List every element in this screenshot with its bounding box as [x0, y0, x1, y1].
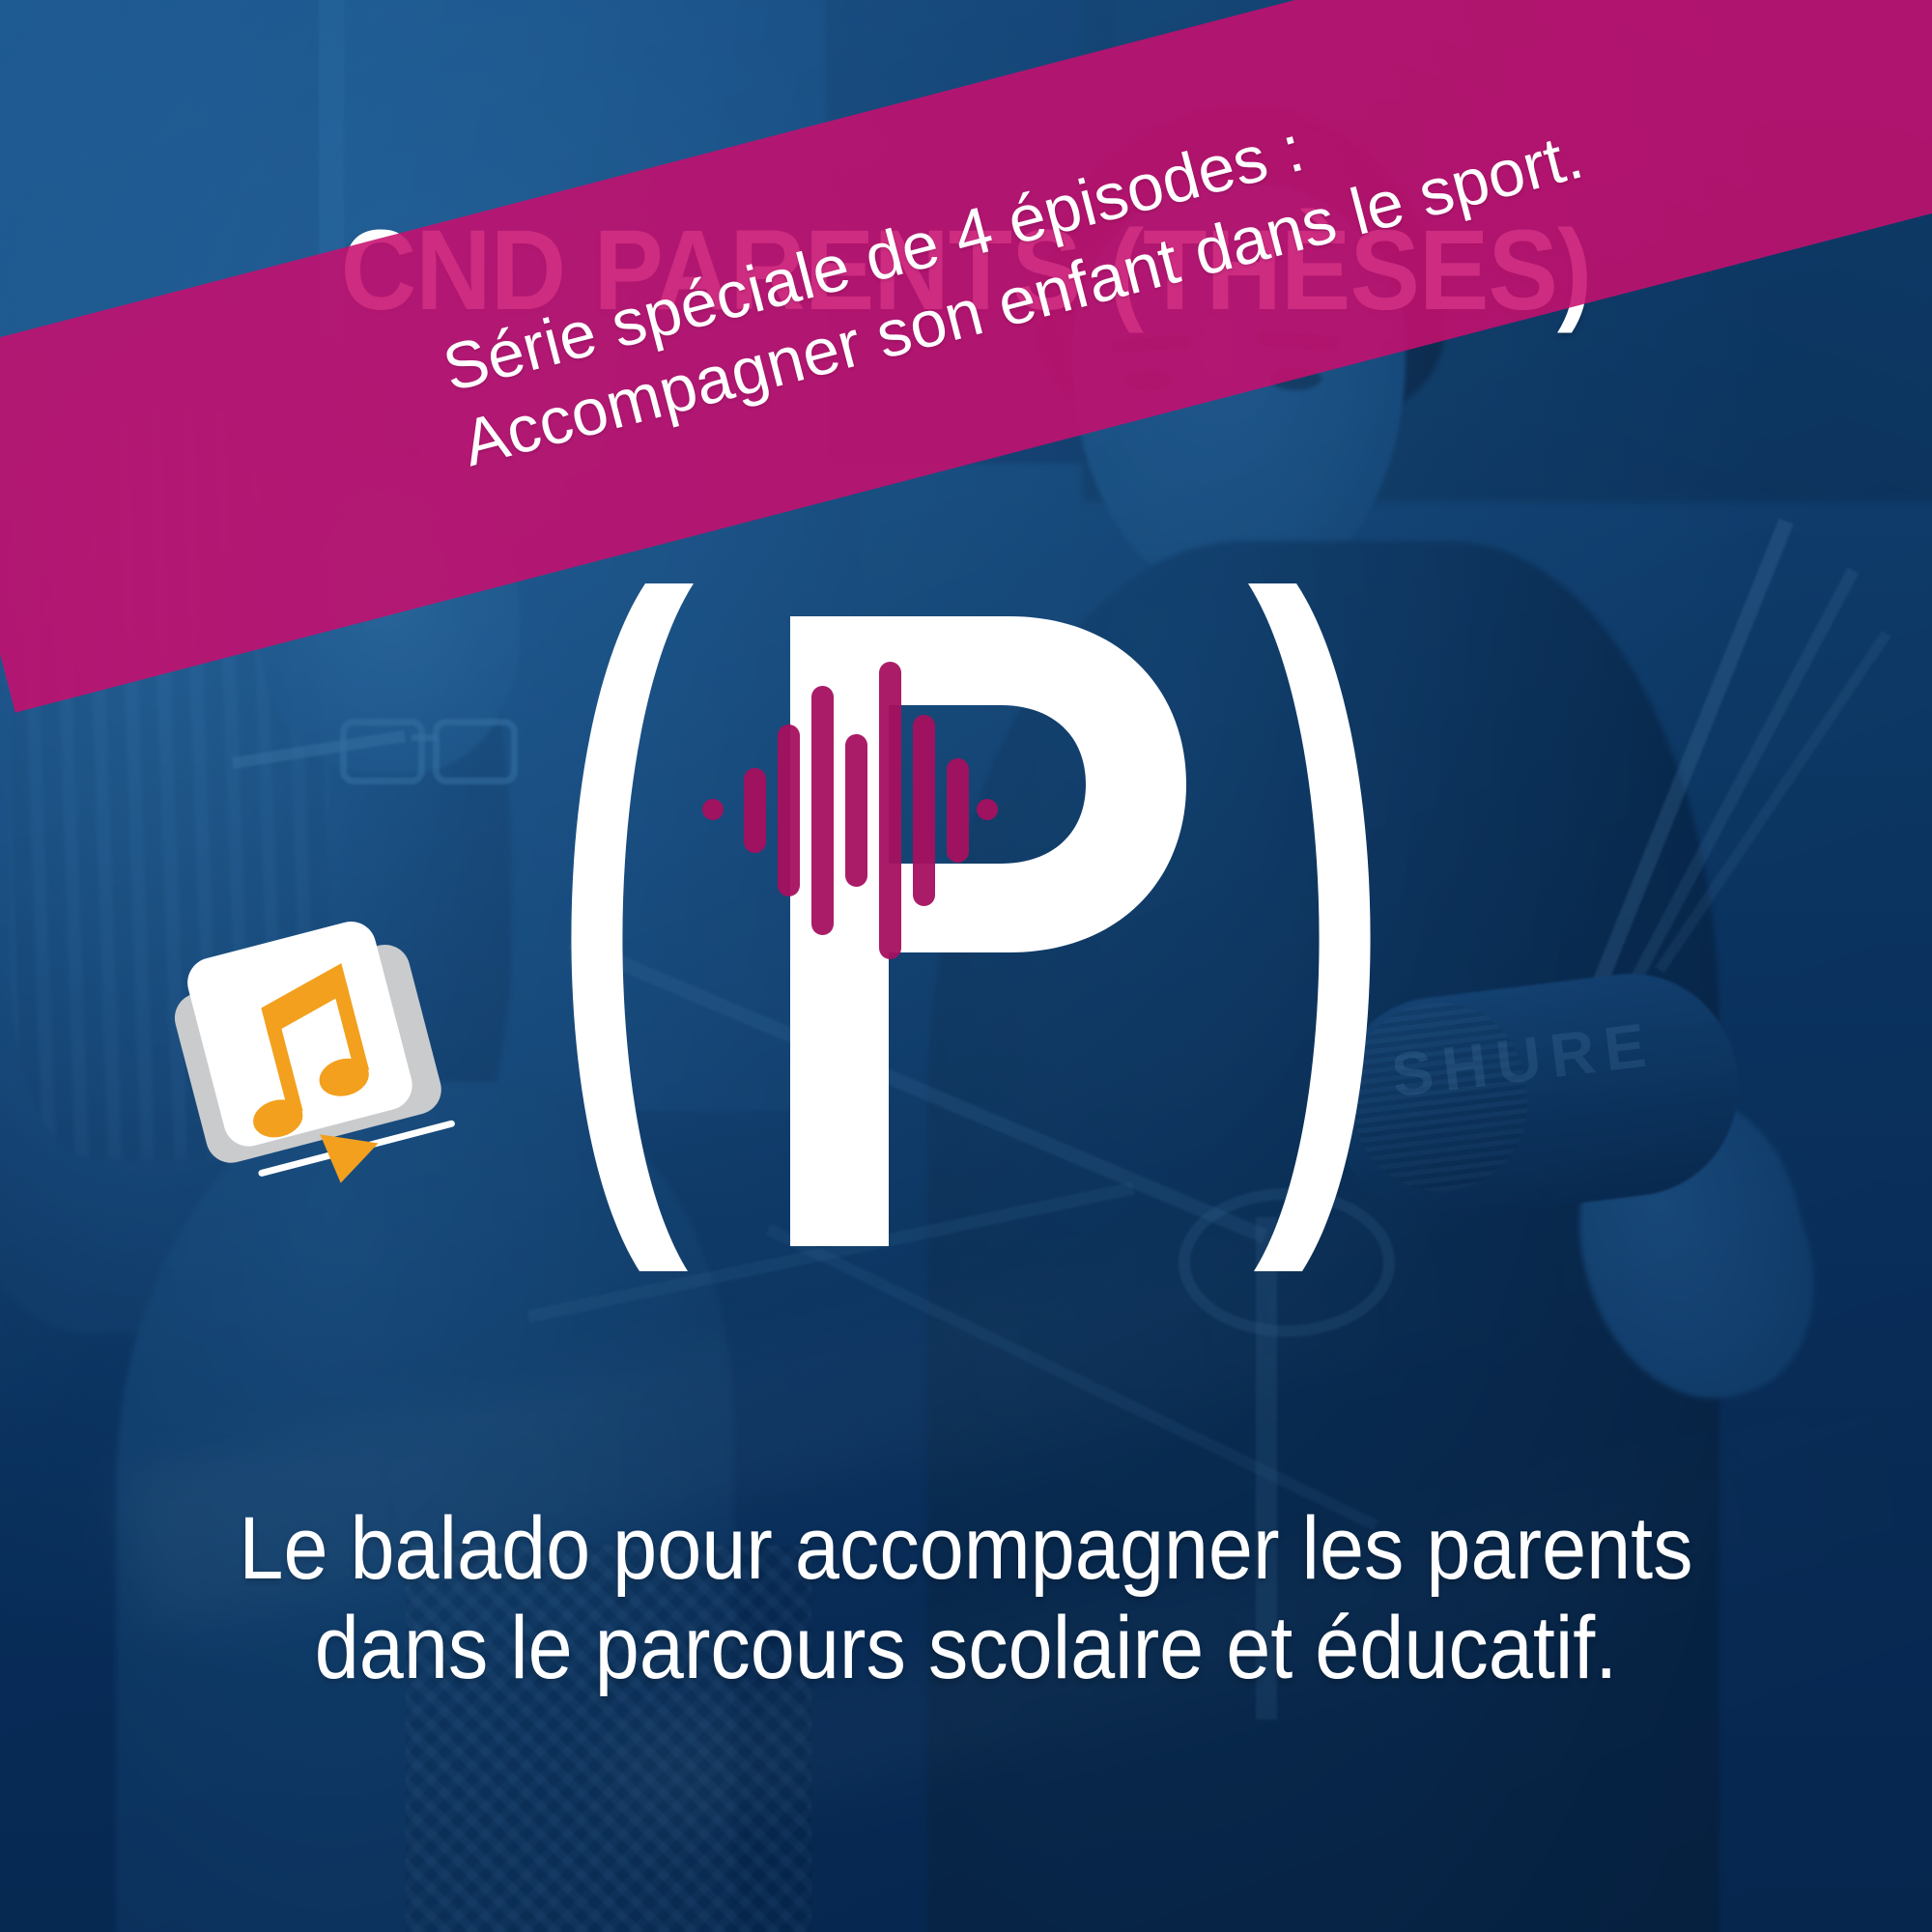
- tagline: Le balado pour accompagner les parents d…: [218, 1499, 1714, 1698]
- podcast-logo-p-icon: [570, 570, 1372, 1285]
- music-note-podcast-icon: [174, 908, 464, 1207]
- podcast-cover-poster: SHURE CND PARENTS (THÈSES): [0, 0, 1932, 1932]
- tagline-line-1: Le balado pour accompagner les parents: [218, 1499, 1714, 1599]
- tagline-line-2: dans le parcours scolaire et éducatif.: [218, 1599, 1714, 1698]
